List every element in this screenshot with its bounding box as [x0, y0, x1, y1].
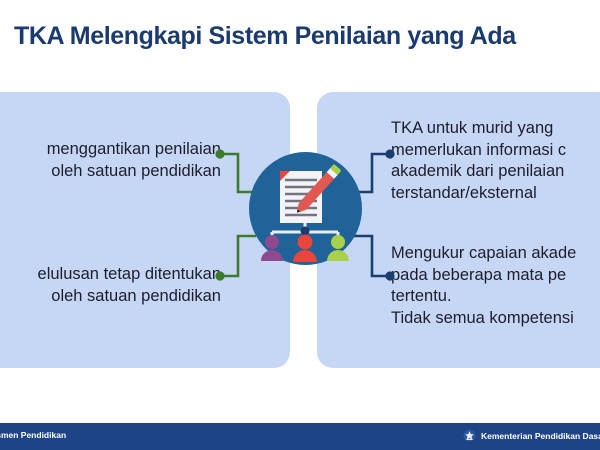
page-title: TKA Melengkapi Sistem Penilaian yang Ada: [14, 22, 594, 51]
left-item-1-text: menggantikan penilaian oleh satuan pendi…: [0, 139, 221, 182]
footer-institution-label: um, dan Asesmen Pendidikan: [0, 430, 66, 440]
person-green-icon: [327, 235, 349, 261]
footer-ministry: Kementerian Pendidikan Dasa: [463, 429, 600, 442]
right-item-1-text: TKA untuk murid yang memerlukan informas…: [391, 118, 600, 204]
illustration-artwork: [249, 152, 362, 265]
footer-ministry-label: Kementerian Pendidikan Dasa: [481, 431, 600, 441]
person-purple-icon: [261, 235, 283, 261]
center-illustration: [249, 152, 362, 265]
org-chart-node: [301, 227, 310, 236]
right-item-2-text: Mengukur capaian akade pada beberapa mat…: [391, 243, 600, 329]
footer-bar: um, dan Asesmen Pendidikan Kementerian P…: [0, 423, 600, 450]
person-red-icon: [293, 235, 317, 263]
kemendikdasmen-logo: [463, 429, 476, 442]
left-item-2-text: elulusan tetap ditentukan oleh satuan pe…: [0, 264, 221, 307]
